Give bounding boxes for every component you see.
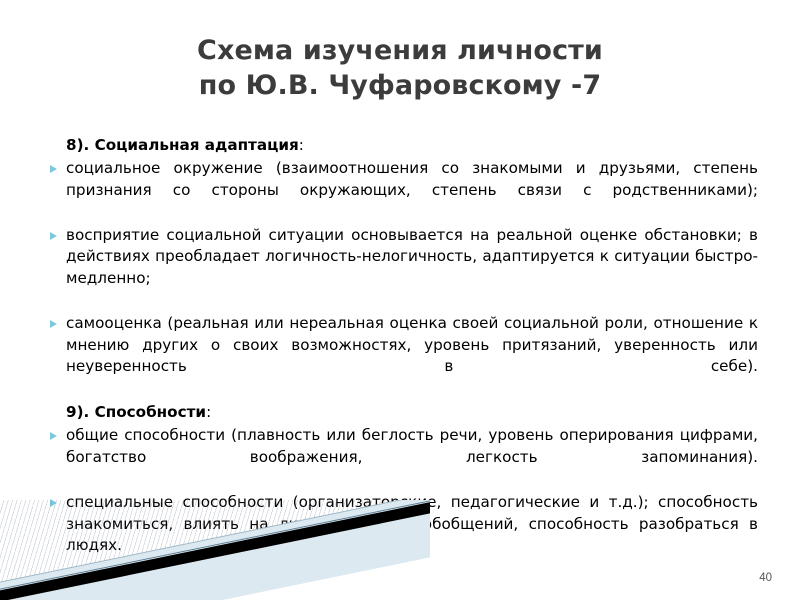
list-item: социальное окружение (взаимоотношения со… [48, 158, 758, 223]
triangle-bullet-icon [50, 232, 57, 240]
section-heading-9-colon: : [206, 403, 211, 421]
list-item: специальные способности (организаторские… [48, 492, 758, 578]
list-item: самооценка (реальная или нереальная оцен… [48, 313, 758, 399]
list-item-text: специальные способности (организаторские… [66, 492, 758, 578]
slide-canvas: Схема изучения личности по Ю.В. Чуфаровс… [0, 0, 800, 600]
section-heading-9: 9). Способности: [66, 401, 758, 423]
list-item-text: восприятие социальной ситуации основывае… [66, 225, 758, 311]
section-heading-8: 8). Социальная адаптация: [66, 134, 758, 156]
triangle-bullet-icon [50, 499, 57, 507]
slide-body: 8). Социальная адаптация: социальное окр… [48, 134, 758, 580]
page-number: 40 [759, 572, 772, 584]
list-item-text: общие способности (плавность или беглост… [66, 425, 758, 490]
triangle-bullet-icon [50, 432, 57, 440]
section-heading-9-text: 9). Способности [66, 403, 206, 421]
triangle-bullet-icon [50, 165, 57, 173]
list-item: восприятие социальной ситуации основывае… [48, 225, 758, 311]
title-line-2: по Ю.В. Чуфаровскому -7 [0, 69, 800, 104]
section-heading-8-text: 8). Социальная адаптация [66, 136, 299, 154]
title-line-1: Схема изучения личности [0, 34, 800, 69]
list-item-text: самооценка (реальная или нереальная оцен… [66, 313, 758, 399]
page-title: Схема изучения личности по Ю.В. Чуфаровс… [0, 34, 800, 103]
list-item: общие способности (плавность или беглост… [48, 425, 758, 490]
section-heading-8-colon: : [299, 136, 304, 154]
list-item-text: социальное окружение (взаимоотношения со… [66, 158, 758, 223]
triangle-bullet-icon [50, 320, 57, 328]
